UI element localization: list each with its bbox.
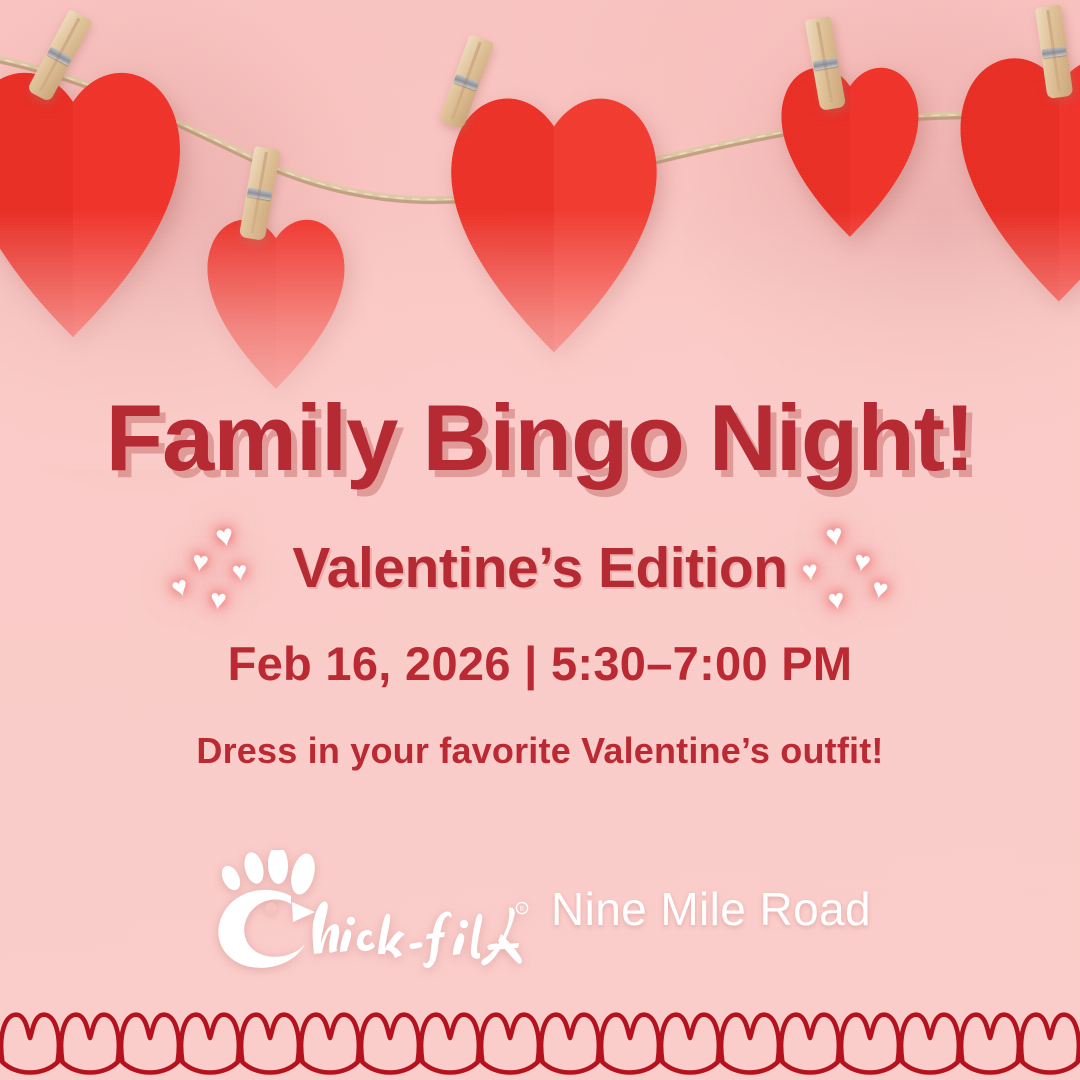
heart-icon: ♥: [869, 575, 890, 605]
chick-fil-a-logo-icon: R: [209, 850, 529, 975]
heart-icon: ♥: [800, 557, 819, 586]
heart-icon: ♥: [213, 520, 237, 553]
heart-icon: ♥: [851, 547, 872, 577]
brand-logo-row: R Nine Mile Road: [0, 842, 1080, 982]
heart-cluster-left: ♥ ♥ ♥ ♥ ♥: [174, 518, 284, 618]
heart-border-decoration: [0, 990, 1080, 1080]
dress-code-note: Dress in your favorite Valentine’s outfi…: [0, 730, 1080, 772]
valentine-bingo-flyer: Family Bingo Night! ♥ ♥ ♥ ♥ ♥ Valentine’…: [0, 0, 1080, 1080]
heart-icon: ♥: [209, 585, 228, 615]
heart-icon: ♥: [191, 547, 211, 577]
event-datetime: Feb 16, 2026 | 5:30–7:00 PM: [0, 636, 1080, 691]
store-location-name: Nine Mile Road: [551, 882, 871, 942]
subtitle-row: ♥ ♥ ♥ ♥ ♥ Valentine’s Edition ♥ ♥ ♥ ♥ ♥: [0, 518, 1080, 618]
heart-icon: ♥: [169, 572, 193, 603]
heart-icon: ♥: [231, 557, 249, 584]
page-title: Family Bingo Night!: [0, 384, 1080, 492]
heart-icon: ♥: [823, 521, 845, 553]
subtitle: Valentine’s Edition: [292, 535, 787, 601]
heart-cluster-right: ♥ ♥ ♥ ♥ ♥: [796, 518, 906, 618]
heart-icon: ♥: [826, 585, 846, 615]
svg-text:R: R: [520, 905, 525, 913]
